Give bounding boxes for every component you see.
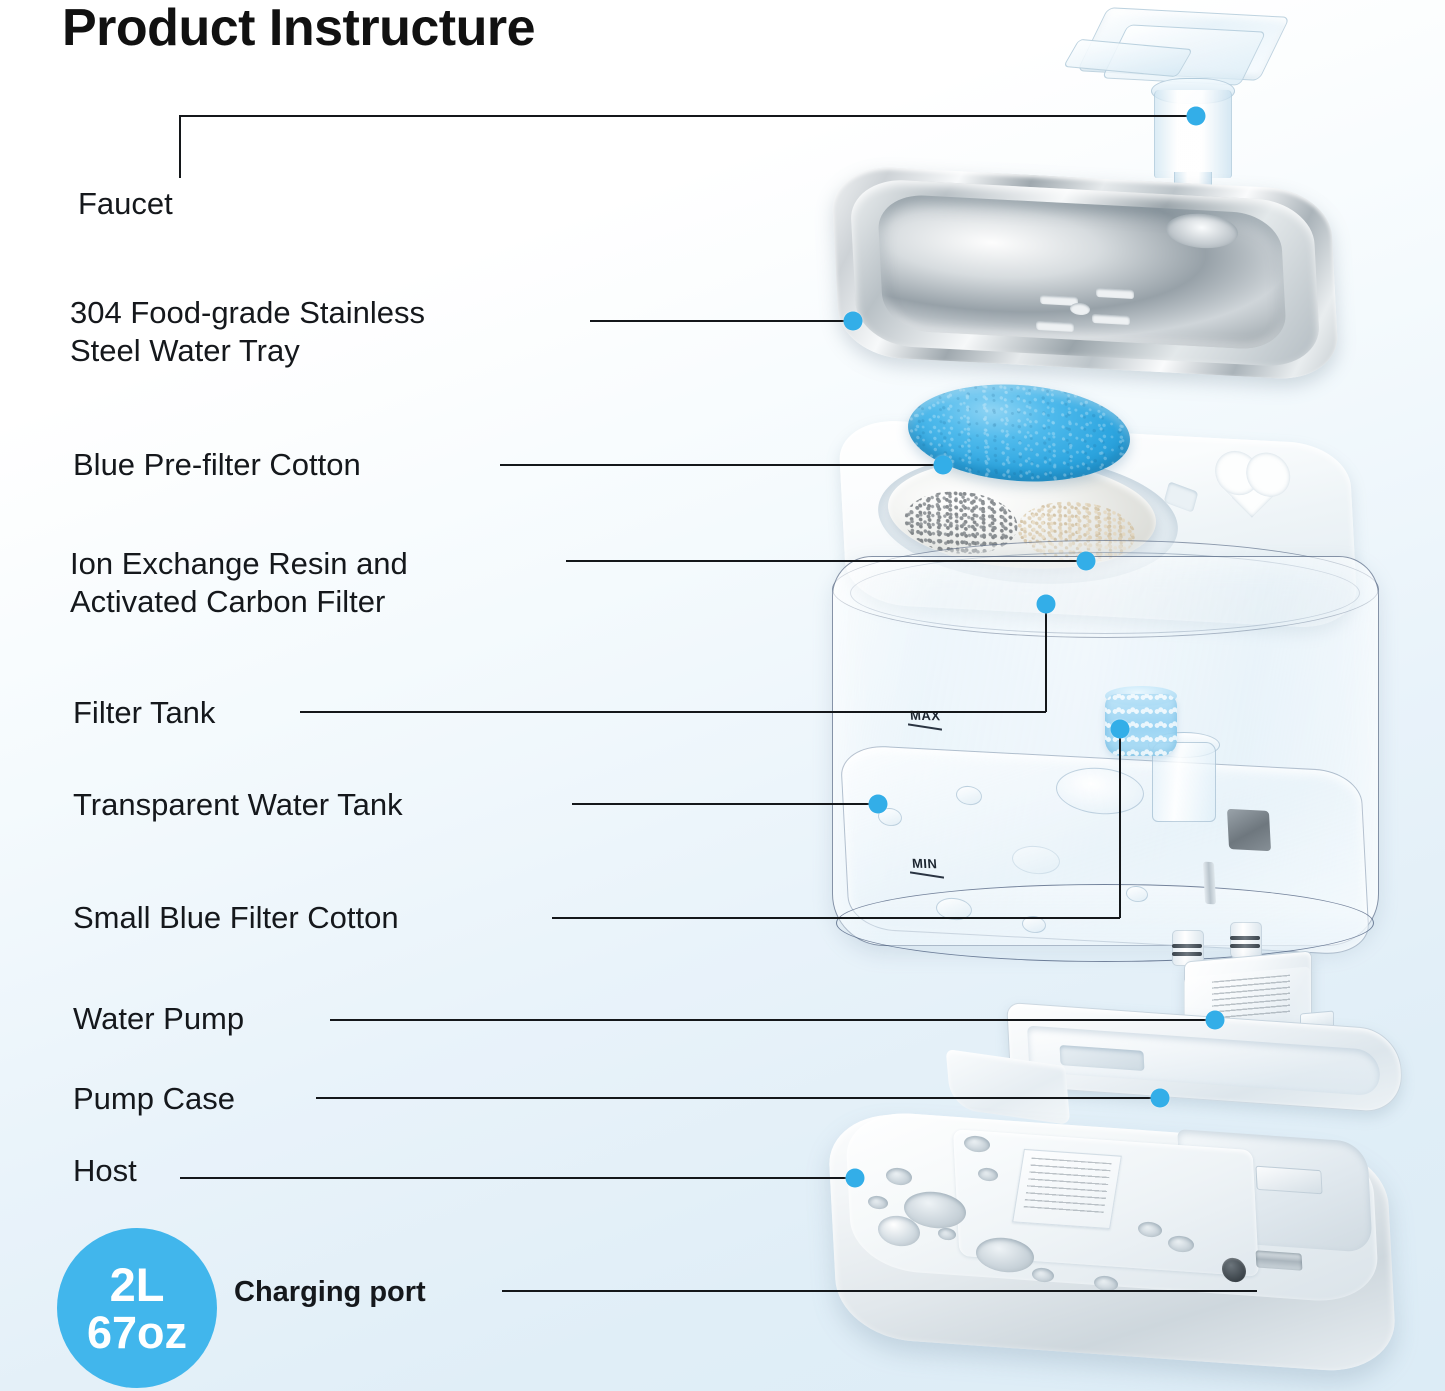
faucet-body bbox=[1154, 90, 1232, 178]
leader-faucet-vertical bbox=[179, 116, 181, 178]
page-title: Product Instructure bbox=[62, 0, 535, 58]
host-spec-label bbox=[1012, 1149, 1122, 1229]
callout-label-host: Host bbox=[73, 1152, 137, 1190]
leader-faucet-horizontal bbox=[179, 115, 1197, 117]
pump-tube-band bbox=[1172, 952, 1202, 956]
pump-tube-band bbox=[1230, 944, 1260, 948]
callout-label-faucet: Faucet bbox=[78, 185, 173, 223]
leader-dot-host bbox=[846, 1169, 865, 1188]
leader-pump-case bbox=[316, 1097, 1159, 1099]
water-tank-clip bbox=[1227, 809, 1271, 851]
pump-tube-band bbox=[1230, 936, 1260, 940]
callout-label-water-pump: Water Pump bbox=[73, 1000, 244, 1038]
leader-pre-filter bbox=[500, 464, 942, 466]
callout-label-water-tray: 304 Food-grade Stainless Steel Water Tra… bbox=[70, 294, 425, 370]
leader-dot-water-pump bbox=[1206, 1011, 1225, 1030]
leader-water-tray bbox=[590, 320, 852, 322]
diagram-canvas: Product Instructure bbox=[0, 0, 1445, 1391]
host-contact-pad bbox=[1255, 1166, 1322, 1195]
leader-dot-pump-case bbox=[1151, 1089, 1170, 1108]
pump-tube-band bbox=[1172, 944, 1202, 948]
callout-label-small-cotton: Small Blue Filter Cotton bbox=[73, 899, 399, 937]
leader-dot-water-tank bbox=[869, 795, 888, 814]
callout-label-resin-carbon: Ion Exchange Resin and Activated Carbon … bbox=[70, 545, 408, 621]
leader-dot-filter-tank bbox=[1037, 595, 1056, 614]
callout-label-water-tank: Transparent Water Tank bbox=[73, 786, 403, 824]
leader-dot-faucet bbox=[1187, 107, 1206, 126]
leader-small-cotton-horizontal bbox=[552, 917, 1120, 919]
callout-label-pump-case: Pump Case bbox=[73, 1080, 235, 1118]
tank-min-marking: MIN bbox=[912, 856, 938, 871]
leader-water-pump bbox=[330, 1019, 1214, 1021]
leader-dot-pre-filter bbox=[934, 456, 953, 475]
leader-charging-port bbox=[502, 1290, 1257, 1292]
leader-dot-small-cotton bbox=[1111, 720, 1130, 739]
capacity-badge-ounces: 67oz bbox=[87, 1310, 187, 1355]
leader-dot-water-tray bbox=[844, 312, 863, 331]
pump-outlet-tube bbox=[1230, 922, 1262, 958]
water-tank-pin bbox=[1203, 862, 1216, 905]
leader-resin-carbon bbox=[566, 560, 1085, 562]
leader-host bbox=[180, 1177, 854, 1179]
callout-label-charging-port: Charging port bbox=[234, 1273, 426, 1311]
water-pump-spec-text bbox=[1212, 975, 1290, 1020]
leader-water-tank bbox=[572, 803, 877, 805]
water-tray-basin bbox=[877, 193, 1288, 351]
leader-filter-tank-vertical bbox=[1045, 604, 1047, 712]
leader-small-cotton-vertical bbox=[1119, 729, 1121, 918]
capacity-badge: 2L 67oz bbox=[57, 1228, 217, 1388]
water-tank-bottom-edge bbox=[836, 884, 1374, 962]
leader-dot-resin-carbon bbox=[1077, 552, 1096, 571]
capacity-badge-liters: 2L bbox=[110, 1261, 165, 1308]
callout-label-filter-tank: Filter Tank bbox=[73, 694, 215, 732]
charging-port-usb[interactable] bbox=[1256, 1250, 1303, 1270]
leader-filter-tank-horizontal bbox=[300, 711, 1046, 713]
callout-label-pre-filter: Blue Pre-filter Cotton bbox=[73, 446, 361, 484]
